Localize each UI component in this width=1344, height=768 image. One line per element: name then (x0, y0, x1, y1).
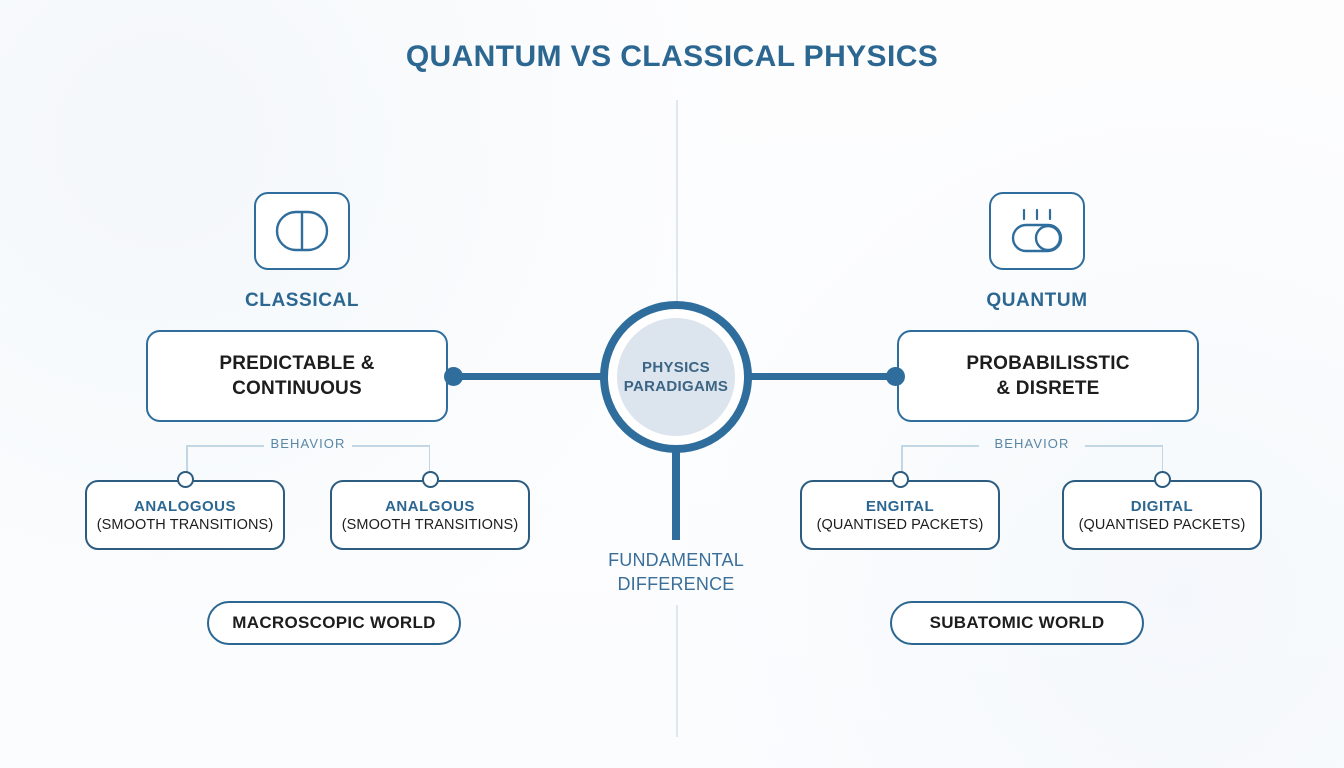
leaf-subtitle: (QUANTISED PACKETS) (817, 517, 984, 533)
leaf-title: ANALOGOUS (134, 498, 236, 515)
leaf-box-analogous[interactable]: ANALOGOUS (SMOOTH TRANSITIONS) (85, 480, 285, 550)
connector-right (746, 373, 898, 380)
fundamental-difference-caption: FUNDAMENTAL DIFFERENCE (556, 548, 796, 597)
classical-main-line2: CONTINUOUS (232, 378, 362, 399)
leaf-subtitle: (QUANTISED PACKETS) (1079, 517, 1246, 533)
leaf-subtitle: (SMOOTH TRANSITIONS) (97, 517, 274, 533)
page-title: QUANTUM VS CLASSICAL PHYSICS (0, 40, 1344, 74)
leaf-subtitle: (SMOOTH TRANSITIONS) (342, 517, 519, 533)
center-divider-bottom (676, 605, 678, 737)
leaf-node-right-1 (892, 471, 909, 488)
connector-left (452, 373, 604, 380)
connector-dot-right (886, 367, 905, 386)
hub-line2: PARADIGAMS (624, 378, 728, 395)
connector-dot-left (444, 367, 463, 386)
leaf-box-analgous[interactable]: ANALGOUS (SMOOTH TRANSITIONS) (330, 480, 530, 550)
leaf-node-left-1 (177, 471, 194, 488)
leaf-title: DIGITAL (1131, 498, 1193, 515)
classical-label: CLASSICAL (192, 290, 412, 312)
fundamental-line2: DIFFERENCE (617, 574, 734, 594)
hub-stem (672, 445, 680, 540)
leaf-box-engital[interactable]: ENGITAL (QUANTISED PACKETS) (800, 480, 1000, 550)
classical-head-group: CLASSICAL (192, 192, 412, 312)
leaf-node-left-2 (422, 471, 439, 488)
leaf-title: ANALGOUS (385, 498, 475, 515)
hub-line1: PHYSICS (642, 359, 710, 376)
quantum-main-line2: & DISRETE (996, 378, 1099, 399)
quantum-main-box[interactable]: PROBABILISSTIC & DISRETE (897, 330, 1199, 422)
diagram-canvas: QUANTUM VS CLASSICAL PHYSICS CLASSICAL Q… (0, 0, 1344, 768)
split-capsule-icon (254, 192, 350, 270)
leaf-box-digital[interactable]: DIGITAL (QUANTISED PACKETS) (1062, 480, 1262, 550)
fundamental-line1: FUNDAMENTAL (608, 550, 744, 570)
subatomic-world-pill[interactable]: SUBATOMIC WORLD (890, 601, 1144, 645)
center-divider-top (676, 100, 678, 315)
behavior-label-right: BEHAVIOR (901, 436, 1163, 451)
behavior-bracket-left: BEHAVIOR (186, 445, 430, 473)
physics-paradigms-hub[interactable]: PHYSICS PARADIGAMS (600, 301, 752, 453)
hub-inner-disc: PHYSICS PARADIGAMS (617, 318, 735, 436)
behavior-label-left: BEHAVIOR (186, 436, 430, 451)
behavior-bracket-right: BEHAVIOR (901, 445, 1163, 473)
quantum-label: QUANTUM (927, 290, 1147, 312)
leaf-title: ENGITAL (866, 498, 934, 515)
classical-main-line1: PREDICTABLE & (219, 353, 374, 374)
leaf-node-right-2 (1154, 471, 1171, 488)
classical-main-box[interactable]: PREDICTABLE & CONTINUOUS (146, 330, 448, 422)
quantum-main-line1: PROBABILISSTIC (966, 353, 1129, 374)
quantum-head-group: QUANTUM (927, 192, 1147, 312)
macroscopic-world-pill[interactable]: MACROSCOPIC WORLD (207, 601, 461, 645)
toggle-switch-icon (989, 192, 1085, 270)
